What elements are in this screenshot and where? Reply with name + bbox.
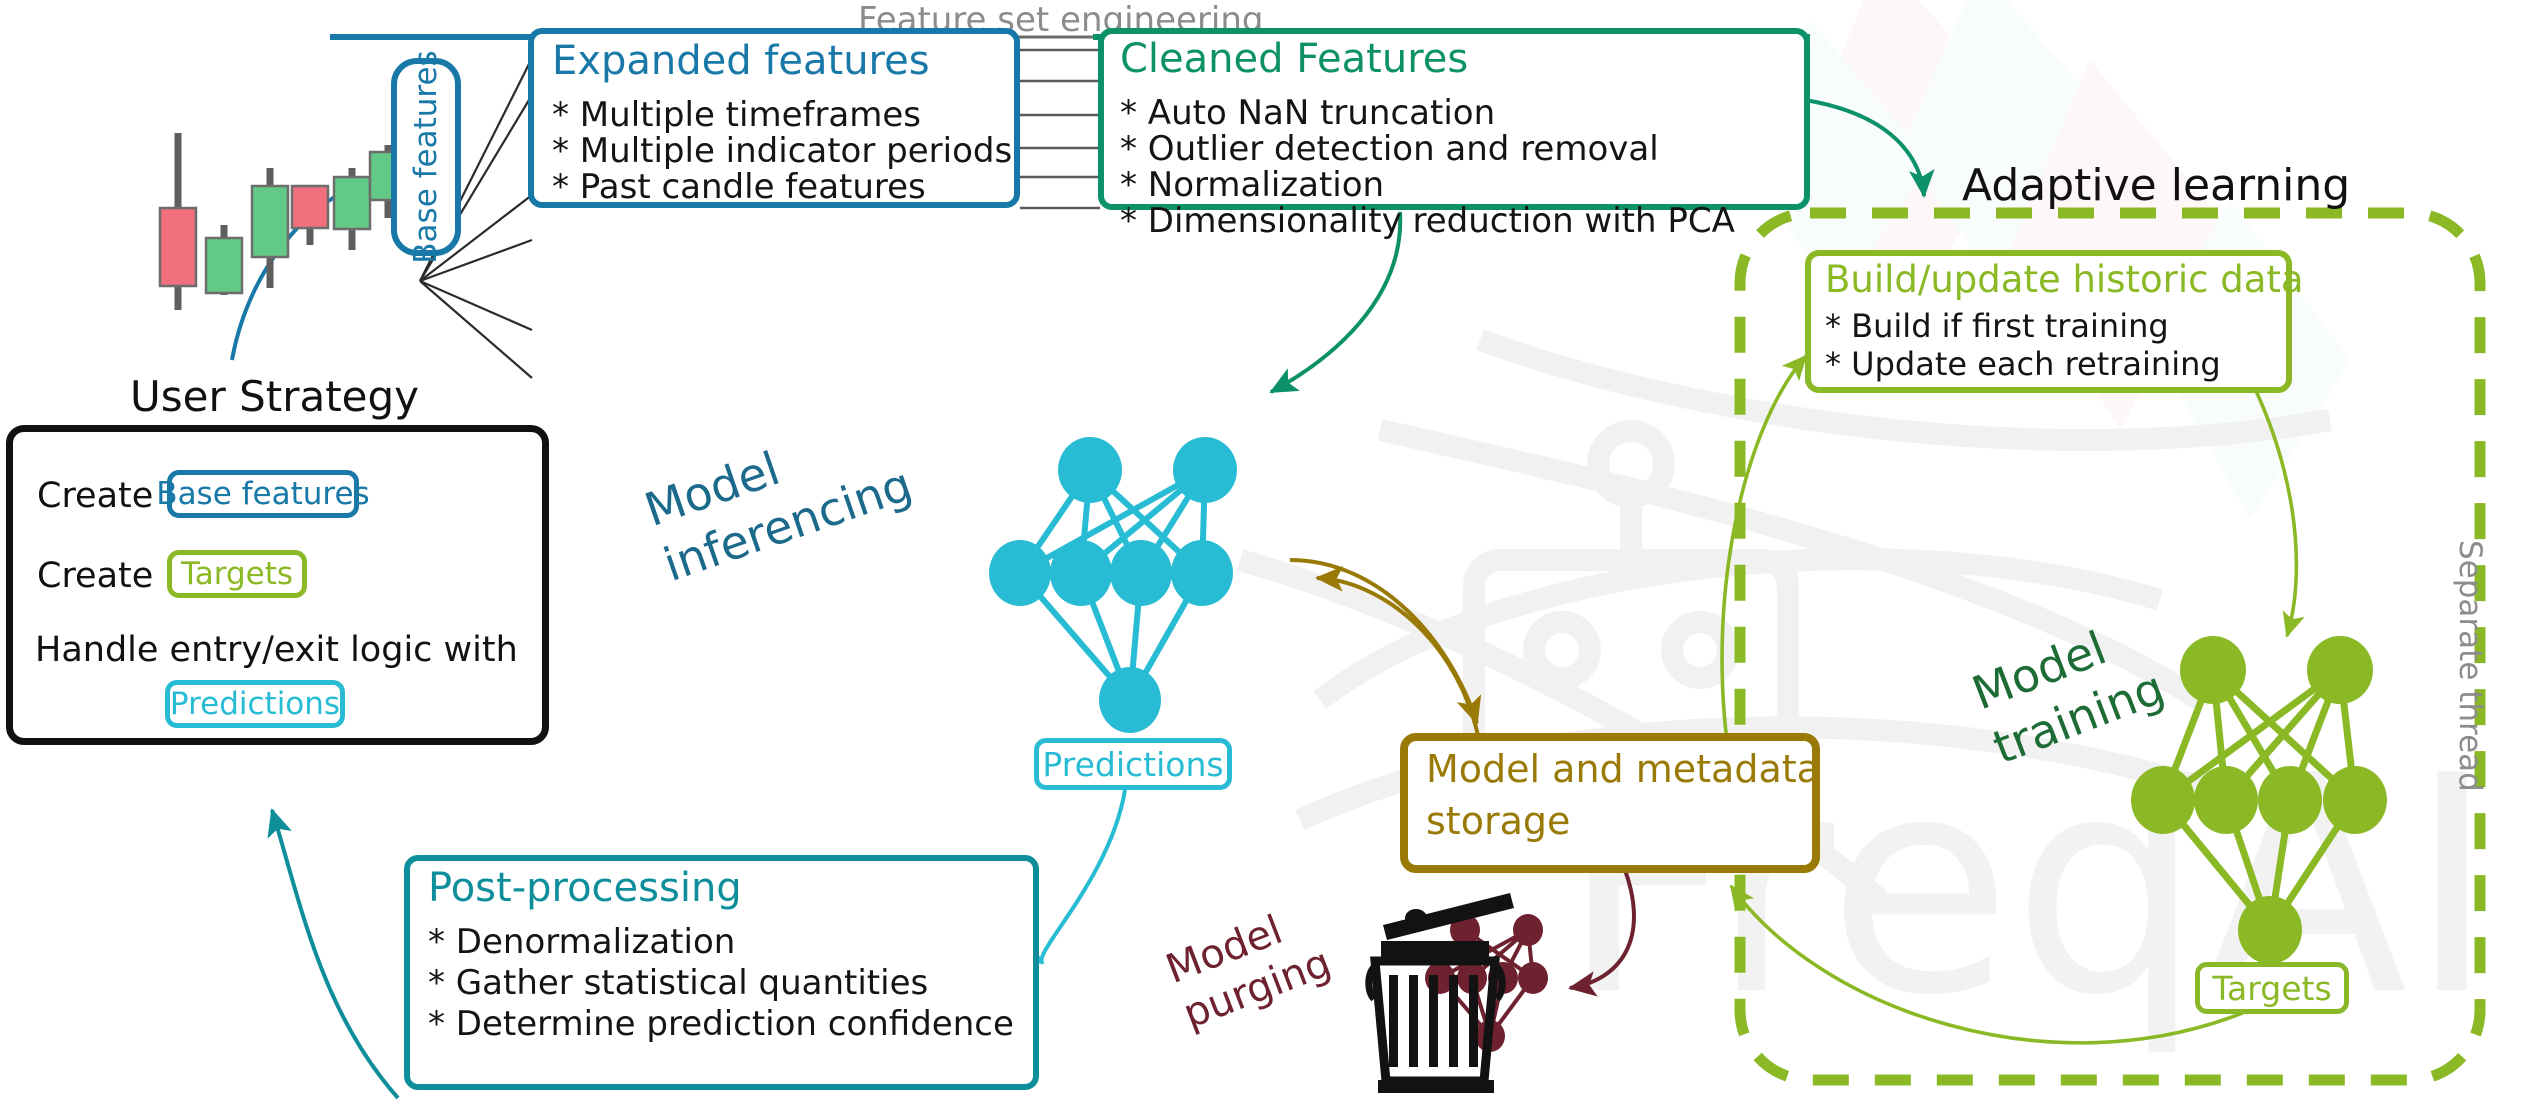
separate-thread-label: Separate thread xyxy=(2452,540,2488,792)
build-update-bullet: * Update each retraining xyxy=(1825,344,2221,384)
base-features-chip-label: Base features xyxy=(408,50,444,263)
targets-pill[interactable]: Targets xyxy=(167,550,307,598)
targets-pill-label: Targets xyxy=(181,556,293,592)
model-storage-line2: storage xyxy=(1426,799,1570,843)
connector-lines-expanded-to-cleaned xyxy=(1020,50,1100,208)
base-features-chip[interactable]: Base features xyxy=(391,58,461,256)
model-storage-box: Model and metadata storage xyxy=(1400,733,1820,873)
candlestick-chart-icon xyxy=(160,133,406,310)
neural-network-icon-inference xyxy=(989,437,1237,733)
adaptive-learning-label: Adaptive learning xyxy=(1962,160,2350,211)
predictions-pill-strategy-label: Predictions xyxy=(170,686,340,722)
expanded-features-title: Expanded features xyxy=(552,40,930,82)
arrow-predictions-to-postprocessing xyxy=(1042,790,1125,963)
diagram-canvas: FreqAI xyxy=(0,0,2539,1104)
post-processing-title: Post-processing xyxy=(428,867,742,909)
cleaned-features-title: Cleaned Features xyxy=(1120,38,1468,80)
build-update-bullet: * Build if first training xyxy=(1825,306,2169,346)
predictions-pill-inference-label: Predictions xyxy=(1042,745,1223,784)
expanded-features-bullet: * Past candle features xyxy=(552,166,926,209)
base-features-pill-label: Base features xyxy=(156,476,369,512)
targets-pill-training[interactable]: Targets xyxy=(2195,962,2349,1014)
expanded-features-box: Expanded features * Multiple timeframes … xyxy=(528,28,1020,208)
cleaned-features-box: Cleaned Features * Auto NaN truncation *… xyxy=(1098,28,1810,210)
post-processing-bullet: * Gather statistical quantities xyxy=(428,962,928,1005)
arrow-postprocessing-to-user-strategy xyxy=(272,810,398,1098)
build-update-title: Build/update historic data xyxy=(1825,258,2304,301)
user-strategy-entry-exit-label: Handle entry/exit logic with xyxy=(35,630,518,670)
post-processing-bullet: * Denormalization xyxy=(428,921,735,964)
base-features-pill[interactable]: Base features xyxy=(167,470,359,518)
user-strategy-create-label-2: Create xyxy=(37,556,153,596)
post-processing-box: Post-processing * Denormalization * Gath… xyxy=(404,855,1039,1090)
user-strategy-box: Create Base features Create Targets Hand… xyxy=(6,425,549,745)
predictions-pill-inference[interactable]: Predictions xyxy=(1034,738,1232,790)
model-storage-line1: Model and metadata xyxy=(1426,747,1820,791)
targets-pill-training-label: Targets xyxy=(2212,969,2331,1008)
build-update-historic-data-box: Build/update historic data * Build if fi… xyxy=(1805,250,2292,393)
user-strategy-title: User Strategy xyxy=(130,372,419,421)
post-processing-bullet: * Determine prediction confidence xyxy=(428,1003,1014,1046)
predictions-pill-strategy[interactable]: Predictions xyxy=(165,680,345,728)
cleaned-features-bullet: * Dimensionality reduction with PCA xyxy=(1120,200,1735,243)
user-strategy-create-label-1: Create xyxy=(37,476,153,516)
